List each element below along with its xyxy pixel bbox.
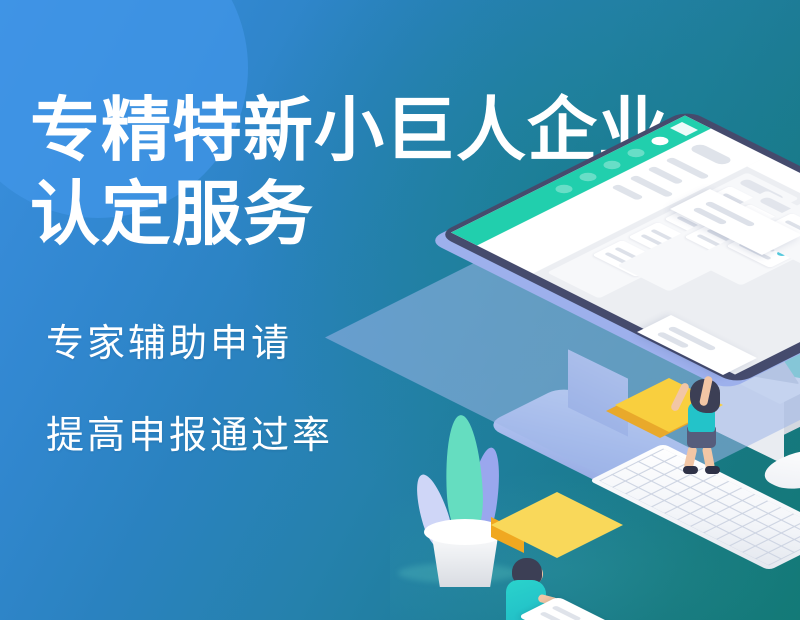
- isometric-desk-illustration: [390, 170, 800, 620]
- app-logo-icon: [670, 122, 698, 136]
- nav-line: [611, 184, 644, 201]
- nav-line: [647, 166, 684, 185]
- title-line-1: 专精特新小巨人企业: [30, 91, 669, 169]
- figure-shoe: [705, 466, 720, 474]
- tablet-line: [539, 612, 562, 620]
- sidebar-dot: [600, 159, 624, 171]
- figure-arm: [670, 382, 690, 412]
- sidebar-dot: [624, 147, 648, 159]
- person-with-tablet-figure: [498, 558, 588, 620]
- sidebar-dot-active: [648, 135, 672, 147]
- sidebar-dot: [576, 171, 600, 183]
- figure-shoe: [683, 466, 698, 474]
- promo-banner: 专精特新小巨人企业 认定服务 专家辅助申请 提高申报通过率: [0, 0, 800, 620]
- person-reaching-figure: [672, 362, 742, 472]
- subtitle-line-1: 专家辅助申请: [46, 322, 292, 366]
- subtitle-line-2: 提高申报通过率: [46, 414, 333, 458]
- nav-avatar-block: [688, 143, 734, 166]
- sidebar-dot: [552, 183, 576, 195]
